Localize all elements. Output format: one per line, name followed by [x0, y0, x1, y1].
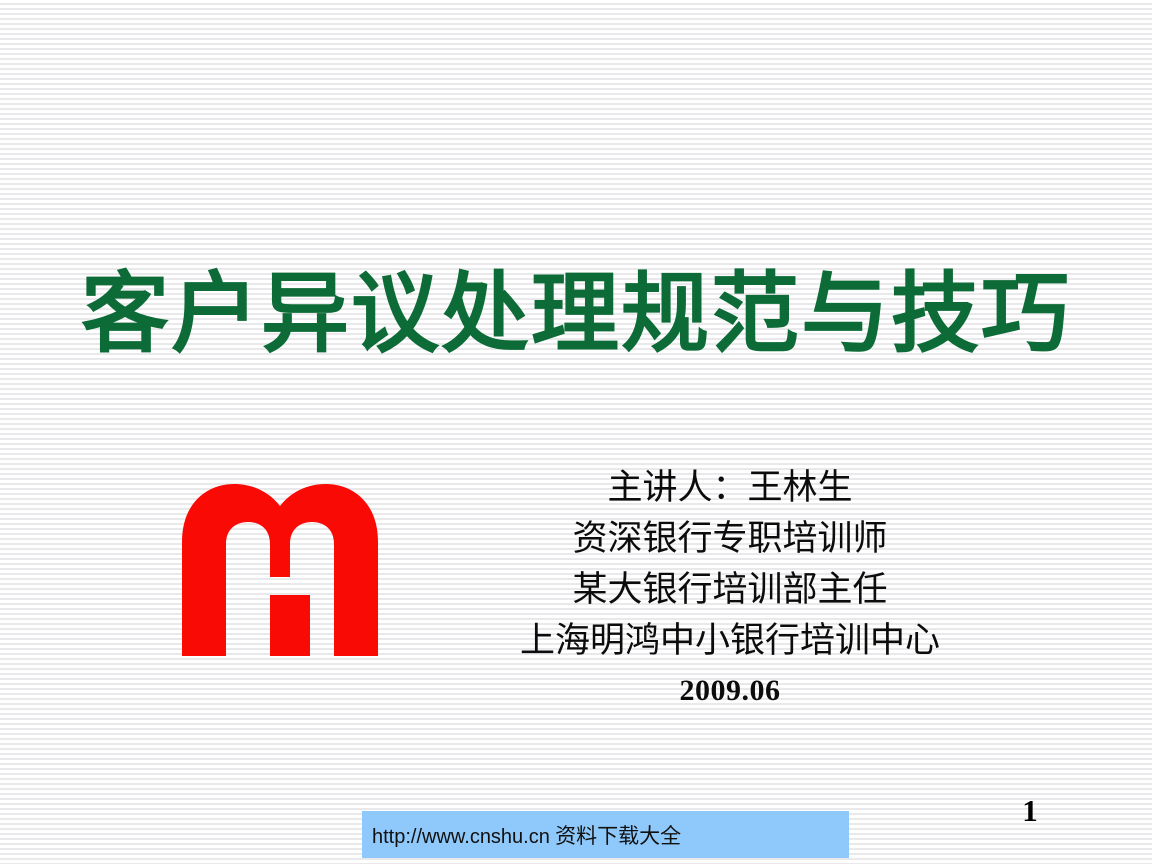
subtitle-line-position: 某大银行培训部主任: [400, 564, 1060, 615]
page-title: 客户异议处理规范与技巧: [0, 268, 1152, 360]
subtitle-line-date: 2009.06: [400, 666, 1060, 716]
footer-label: 资料下载大全: [555, 824, 681, 848]
subtitle-line-organization: 上海明鸿中小银行培训中心: [400, 615, 1060, 666]
footer-url[interactable]: http://www.cnshu.cn: [372, 826, 550, 848]
footer-watermark-box[interactable]: http://www.cnshu.cn 资料下载大全: [362, 811, 849, 858]
subtitle-line-presenter: 主讲人：王林生: [400, 462, 1060, 513]
minghong-m-logo: [182, 482, 378, 658]
footer-watermark-text: http://www.cnshu.cn 资料下载大全: [362, 820, 681, 850]
slide-canvas: 客户异议处理规范与技巧 主讲人：王林生 资深银行专职培训师 某大银行培训部主任 …: [0, 0, 1152, 864]
minghong-m-logo-icon: [182, 482, 378, 658]
page-number: 1: [1000, 793, 1060, 829]
subtitle-block: 主讲人：王林生 资深银行专职培训师 某大银行培训部主任 上海明鸿中小银行培训中心…: [400, 462, 1060, 716]
subtitle-line-role: 资深银行专职培训师: [400, 513, 1060, 564]
